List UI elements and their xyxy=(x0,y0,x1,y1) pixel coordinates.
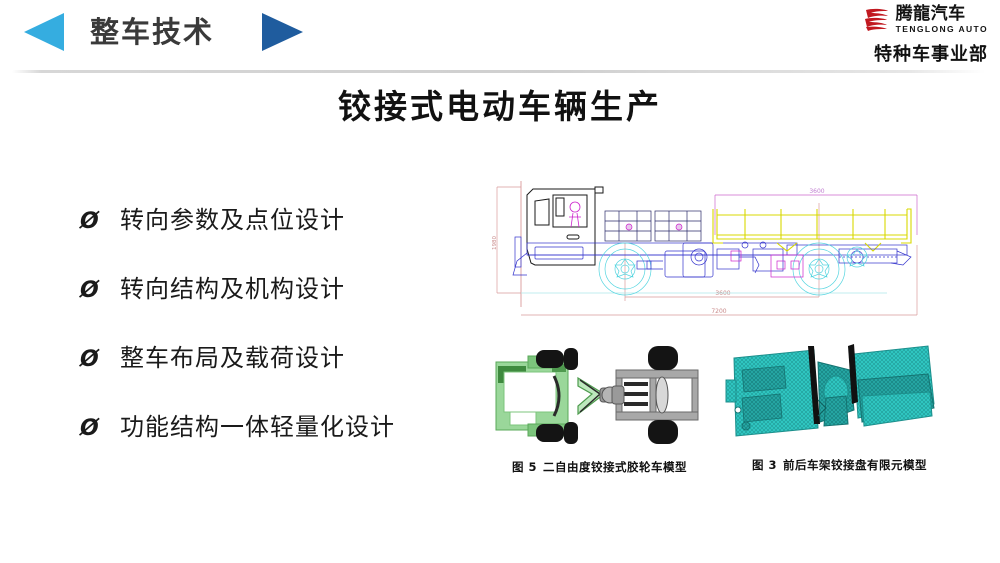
figure-3: 图 3前后车架铰接盘有限元模型 xyxy=(722,340,957,474)
page-title: 铰接式电动车辆生产 xyxy=(0,80,1000,128)
cab-driver-detail xyxy=(569,202,581,227)
triangle-left-icon xyxy=(24,13,64,51)
tenglong-s-mark-icon xyxy=(863,7,891,32)
brand-name-en: TENGLONG AUTO xyxy=(896,25,988,34)
list-item: Ø 整车布局及载荷设计 xyxy=(80,338,480,373)
figure-3-caption-text: 前后车架铰接盘有限元模型 xyxy=(783,458,927,472)
figure-3-caption: 图 3前后车架铰接盘有限元模型 xyxy=(722,457,957,473)
front-rear-frame-hinge-disc-fem-model-image xyxy=(722,340,957,448)
dimension-height xyxy=(497,187,521,293)
list-item: Ø 转向结构及机构设计 xyxy=(80,269,480,304)
two-dof-articulated-tyre-vehicle-model-image xyxy=(492,342,707,450)
figure-5-caption-text: 二自由度铰接式胶轮车模型 xyxy=(543,460,687,474)
brand-name-cn: 腾龍汽车 xyxy=(896,6,966,23)
bullet-marker-icon: Ø xyxy=(80,209,120,234)
slide-header: 整车技术 腾龍汽车 TENGLONG AUTO 特种车事业部 xyxy=(0,0,1000,74)
brand-logo: 腾龍汽车 TENGLONG AUTO 特种车事业部 xyxy=(788,6,988,66)
figure-5: 图 5二自由度铰接式胶轮车模型 xyxy=(492,342,707,474)
rack-markers xyxy=(626,224,682,230)
svg-text:1980: 1980 xyxy=(492,236,498,250)
bullet-marker-icon: Ø xyxy=(80,347,120,372)
triangle-right-icon xyxy=(262,13,303,51)
bullet-marker-icon: Ø xyxy=(80,278,120,303)
rear-axle-assembly xyxy=(839,249,911,265)
dimension-wheelbase xyxy=(625,203,819,301)
svg-text:7200: 7200 xyxy=(711,308,726,315)
fem-mesh-geometry xyxy=(726,344,934,436)
front-cargo-rack xyxy=(605,211,701,241)
header-divider xyxy=(12,70,985,73)
list-item-label: 整车布局及载荷设计 xyxy=(120,338,345,373)
list-item: Ø 功能结构一体轻量化设计 xyxy=(80,407,480,442)
bullet-marker-icon: Ø xyxy=(80,416,120,441)
hinge-and-powertrain xyxy=(637,242,783,277)
svg-text:3600: 3600 xyxy=(715,290,730,297)
svg-text:3600: 3600 xyxy=(809,188,824,195)
slide-canvas: 整车技术 腾龍汽车 TENGLONG AUTO 特种车事业部 铰接式电动车辆生产… xyxy=(0,0,1000,563)
figure-5-caption: 图 5二自由度铰接式胶轮车模型 xyxy=(492,459,707,475)
list-item: Ø 转向参数及点位设计 xyxy=(80,200,480,235)
cab-outline xyxy=(527,187,603,265)
list-item-label: 转向结构及机构设计 xyxy=(120,269,345,304)
front-body xyxy=(496,356,568,436)
figure-3-number: 图 3 xyxy=(752,458,777,472)
rear-chassis xyxy=(612,370,698,420)
list-item-label: 功能结构一体轻量化设计 xyxy=(120,407,395,442)
brand-division: 特种车事业部 xyxy=(788,40,988,66)
bullet-list: Ø 转向参数及点位设计 Ø 转向结构及机构设计 Ø 整车布局及载荷设计 Ø 功能… xyxy=(80,200,480,476)
header-title: 整车技术 xyxy=(90,12,214,52)
list-item-label: 转向参数及点位设计 xyxy=(120,200,345,235)
figure-5-number: 图 5 xyxy=(512,460,537,474)
cad-drawing-side-view: 7200 3600 1980 xyxy=(487,165,957,337)
